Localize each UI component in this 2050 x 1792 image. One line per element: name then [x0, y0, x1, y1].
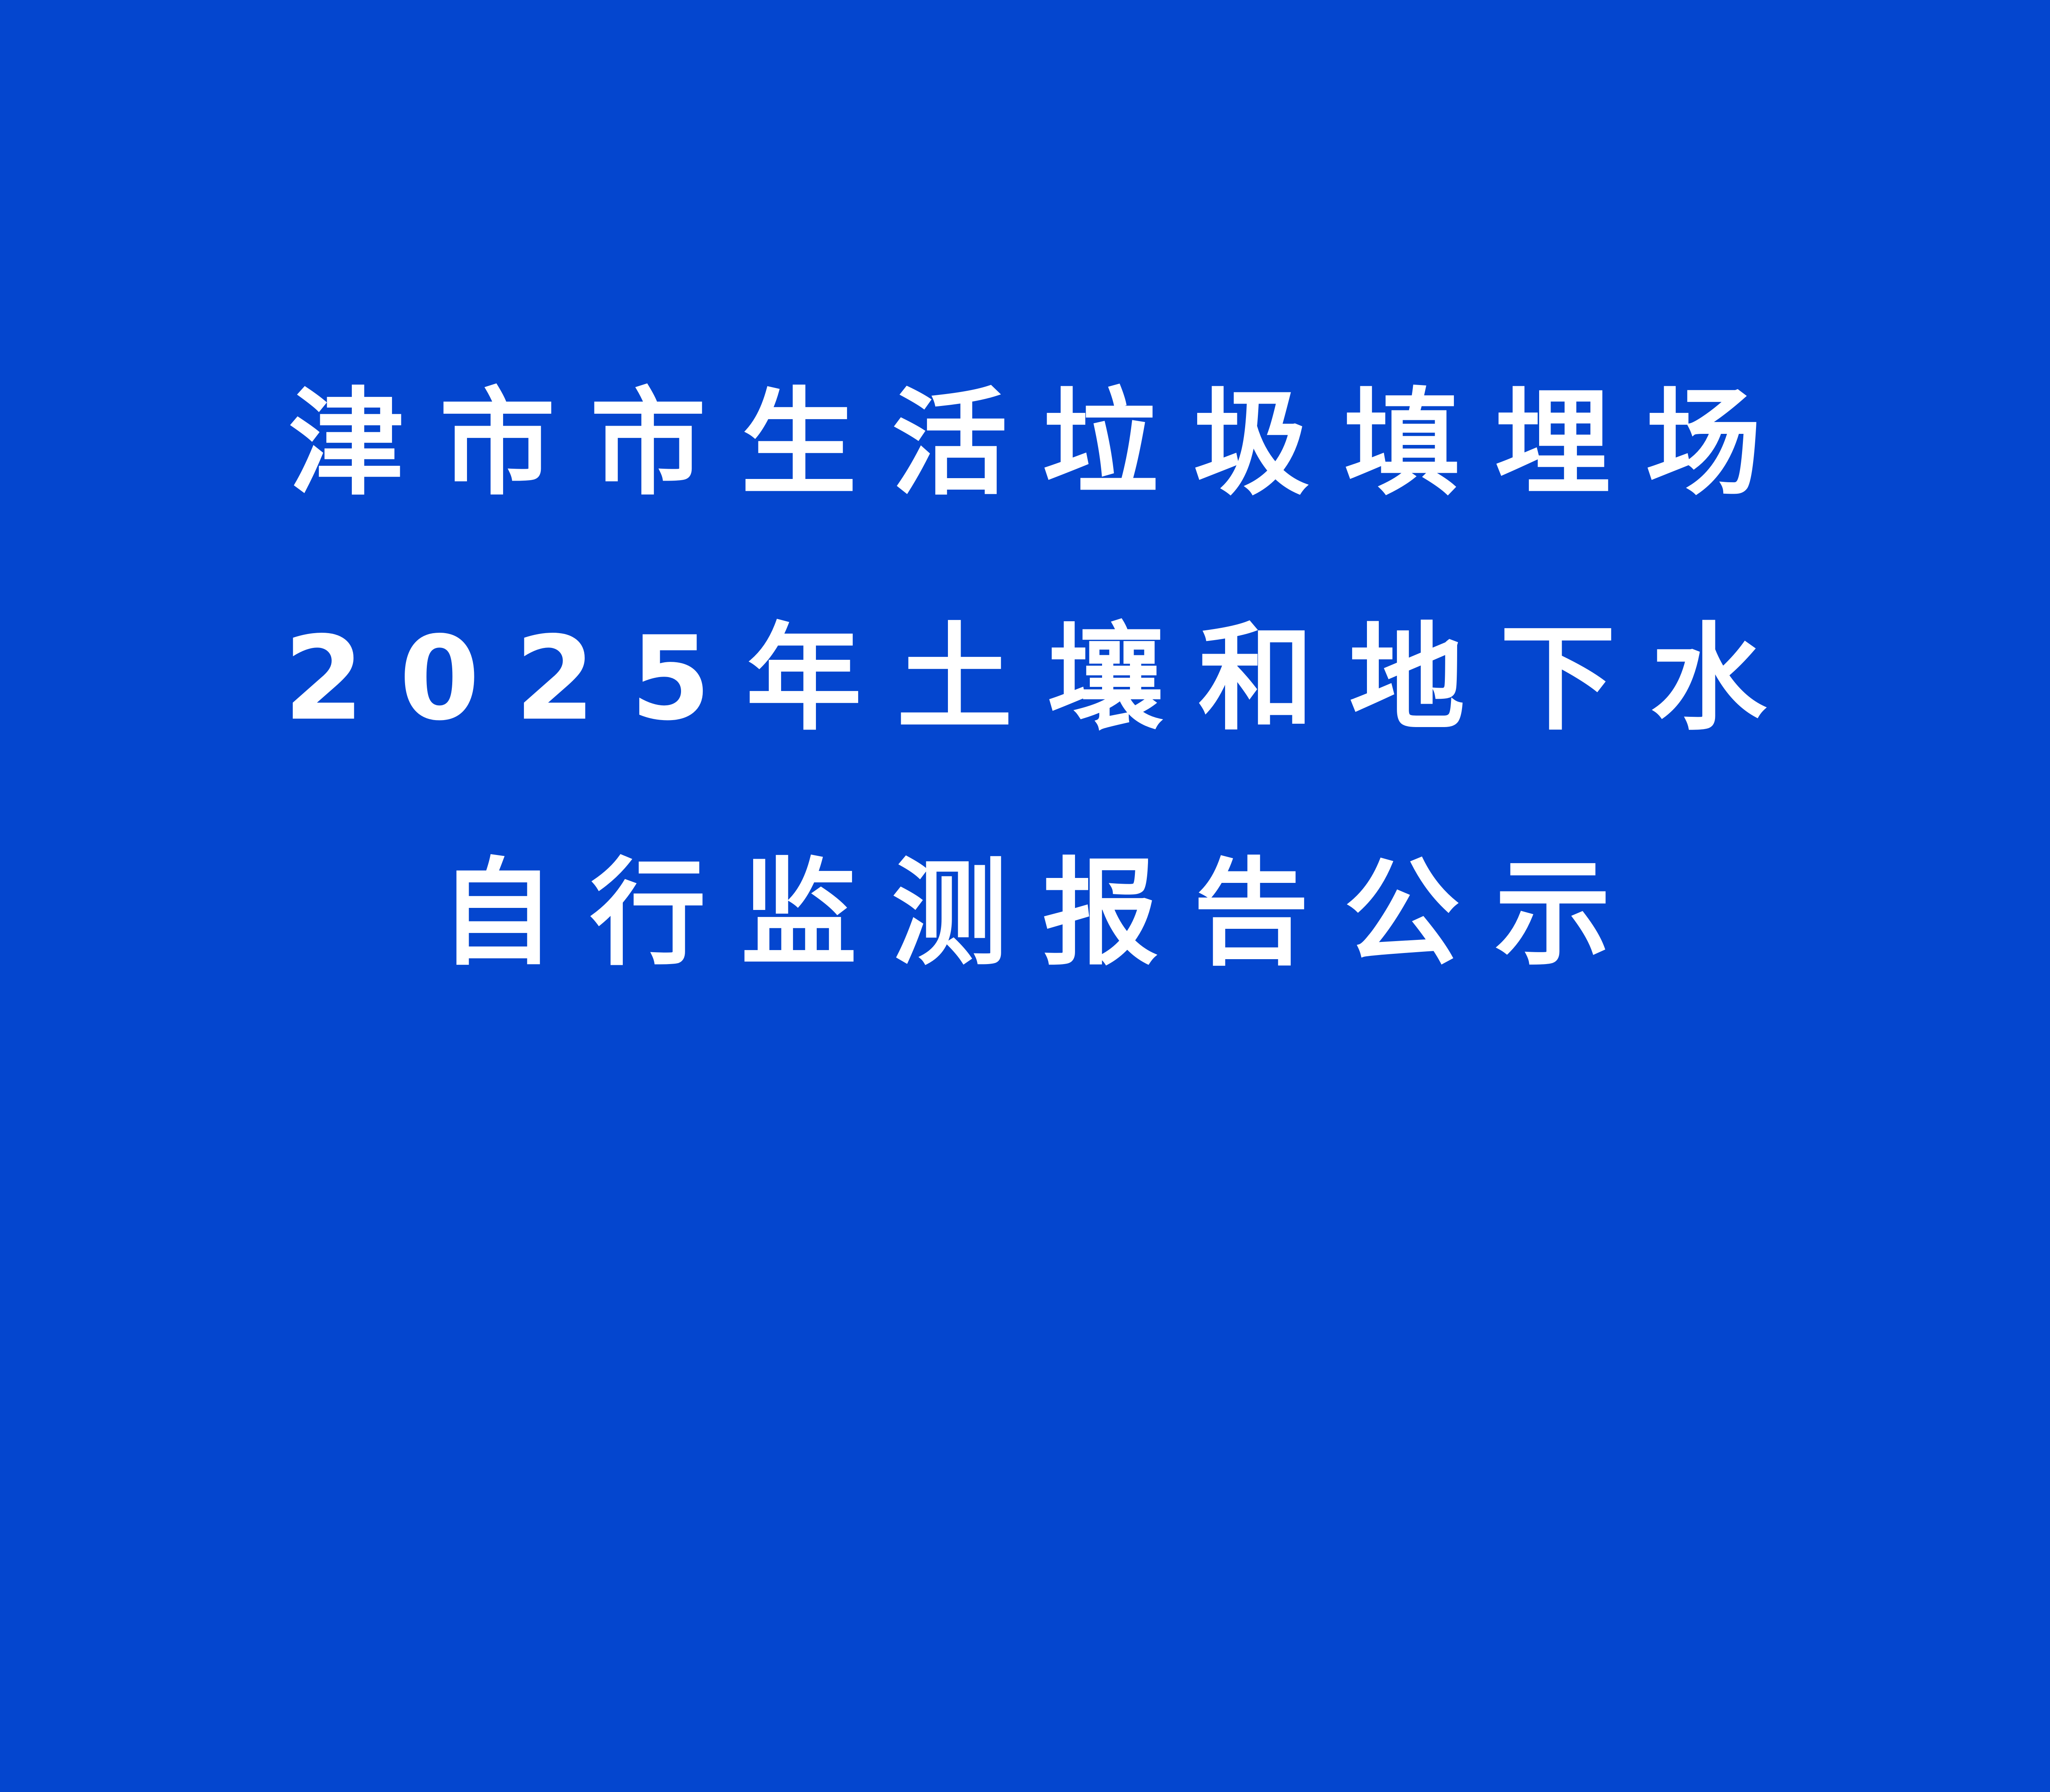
headline-block: 津市市生活垃圾填埋场 2025年土壤和地下水 自行监测报告公示 — [0, 386, 2050, 971]
headline-line-2: 2025年土壤和地下水 — [248, 621, 1802, 736]
poster-canvas: 津市市生活垃圾填埋场 2025年土壤和地下水 自行监测报告公示 — [0, 0, 2050, 1533]
headline-line-3: 自行监测报告公示 — [404, 856, 1646, 971]
headline-line-1: 津市市生活垃圾填埋场 — [253, 386, 1796, 502]
